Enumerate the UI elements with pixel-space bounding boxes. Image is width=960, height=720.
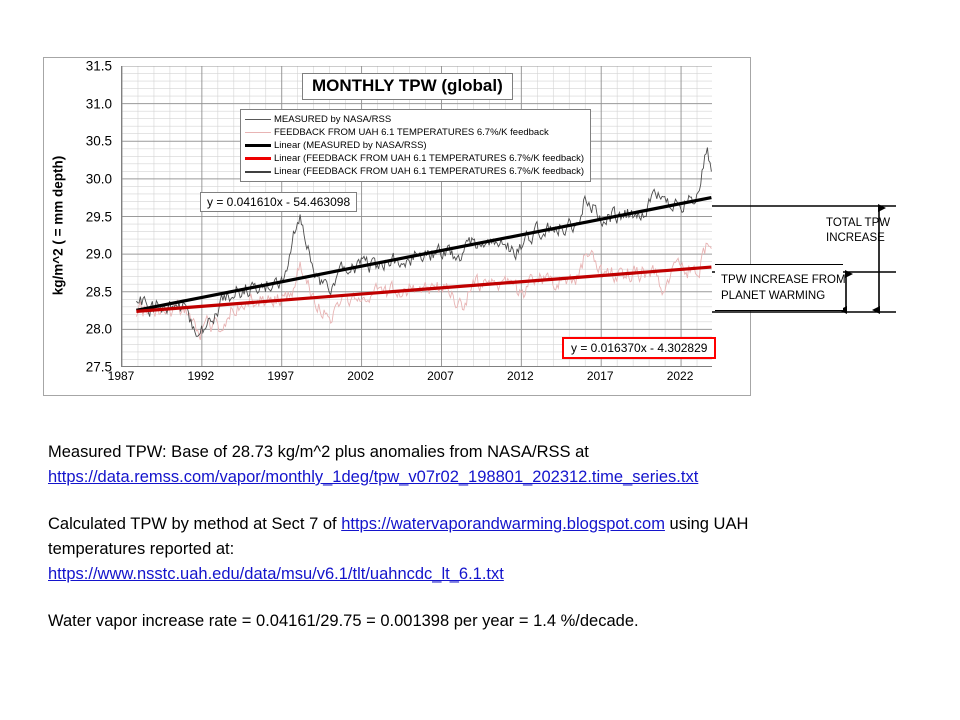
legend-item[interactable]: Linear (MEASURED by NASA/RSS) (245, 139, 584, 152)
y-tick-label: 30.5 (86, 134, 112, 149)
annotation-total-line1: TOTAL TPW (826, 216, 946, 231)
legend-item[interactable]: Linear (FEEDBACK FROM UAH 6.1 TEMPERATUR… (245, 165, 584, 178)
y-tick-label: 29.5 (86, 209, 112, 224)
y-axis-tick-labels: 31.531.030.530.029.529.028.528.027.5 (70, 57, 116, 375)
x-tick-label: 2007 (427, 369, 454, 383)
annotation-total-tpw-increase: TOTAL TPW INCREASE (826, 216, 946, 246)
equation-label-feedback: y = 0.016370x - 4.302829 (562, 337, 716, 359)
measured-tpw-text: Measured TPW: Base of 28.73 kg/m^2 plus … (48, 443, 589, 461)
legend-item-label: Linear (MEASURED by NASA/RSS) (274, 141, 427, 151)
calculated-tpw-text-post: using UAH (665, 515, 748, 533)
legend-swatch-icon (245, 144, 271, 147)
legend-swatch-icon (245, 157, 271, 160)
x-axis-tick-labels: 19871992199720022007201220172022 (121, 369, 712, 389)
legend-item-label: FEEDBACK FROM UAH 6.1 TEMPERATURES 6.7%/… (274, 128, 549, 138)
y-tick-label: 28.0 (86, 322, 112, 337)
y-tick-label: 30.0 (86, 171, 112, 186)
paragraph-increase-rate: Water vapor increase rate = 0.04161/29.7… (48, 609, 928, 634)
x-tick-label: 1997 (267, 369, 294, 383)
legend-item-label: Linear (FEEDBACK FROM UAH 6.1 TEMPERATUR… (274, 154, 584, 164)
y-axis-title-text: kg/m^2 ( = mm depth) (51, 155, 66, 295)
link-uah-data[interactable]: https://www.nsstc.uah.edu/data/msu/v6.1/… (48, 565, 504, 583)
calculated-tpw-text: Calculated TPW by method at Sect 7 of (48, 515, 341, 533)
x-tick-label: 2012 (507, 369, 534, 383)
y-tick-label: 28.5 (86, 284, 112, 299)
x-tick-label: 1987 (108, 369, 135, 383)
link-remss-data[interactable]: https://data.remss.com/vapor/monthly_1de… (48, 468, 698, 486)
chart-legend: MEASURED by NASA/RSSFEEDBACK FROM UAH 6.… (240, 109, 591, 182)
x-tick-label: 1992 (188, 369, 215, 383)
y-axis-title: kg/m^2 ( = mm depth) (46, 115, 70, 335)
annotation-total-line2: INCREASE (826, 231, 946, 246)
y-tick-label: 31.0 (86, 96, 112, 111)
legend-item[interactable]: MEASURED by NASA/RSS (245, 113, 584, 126)
paragraph-calculated-tpw: Calculated TPW by method at Sect 7 of ht… (48, 512, 928, 587)
legend-item-label: MEASURED by NASA/RSS (274, 115, 391, 125)
link-watervaporandwarming[interactable]: https://watervaporandwarming.blogspot.co… (341, 515, 665, 533)
y-tick-label: 29.0 (86, 247, 112, 262)
legend-item-label: Linear (FEEDBACK FROM UAH 6.1 TEMPERATUR… (274, 167, 584, 177)
paragraph-measured-tpw: Measured TPW: Base of 28.73 kg/m^2 plus … (48, 440, 928, 490)
trend-line-feedback (136, 267, 711, 311)
legend-swatch-icon (245, 119, 271, 120)
body-text: Measured TPW: Base of 28.73 kg/m^2 plus … (48, 440, 928, 634)
x-tick-label: 2002 (347, 369, 374, 383)
chart-title: MONTHLY TPW (global) (302, 73, 513, 100)
legend-swatch-icon (245, 171, 271, 173)
x-tick-label: 2022 (667, 369, 694, 383)
y-tick-label: 31.5 (86, 59, 112, 74)
legend-item[interactable]: Linear (FEEDBACK FROM UAH 6.1 TEMPERATUR… (245, 152, 584, 165)
equation-label-measured: y = 0.041610x - 54.463098 (200, 192, 357, 212)
legend-item[interactable]: FEEDBACK FROM UAH 6.1 TEMPERATURES 6.7%/… (245, 126, 584, 139)
temperatures-reported-text: temperatures reported at: (48, 540, 234, 558)
legend-swatch-icon (245, 132, 271, 133)
x-tick-label: 2017 (587, 369, 614, 383)
